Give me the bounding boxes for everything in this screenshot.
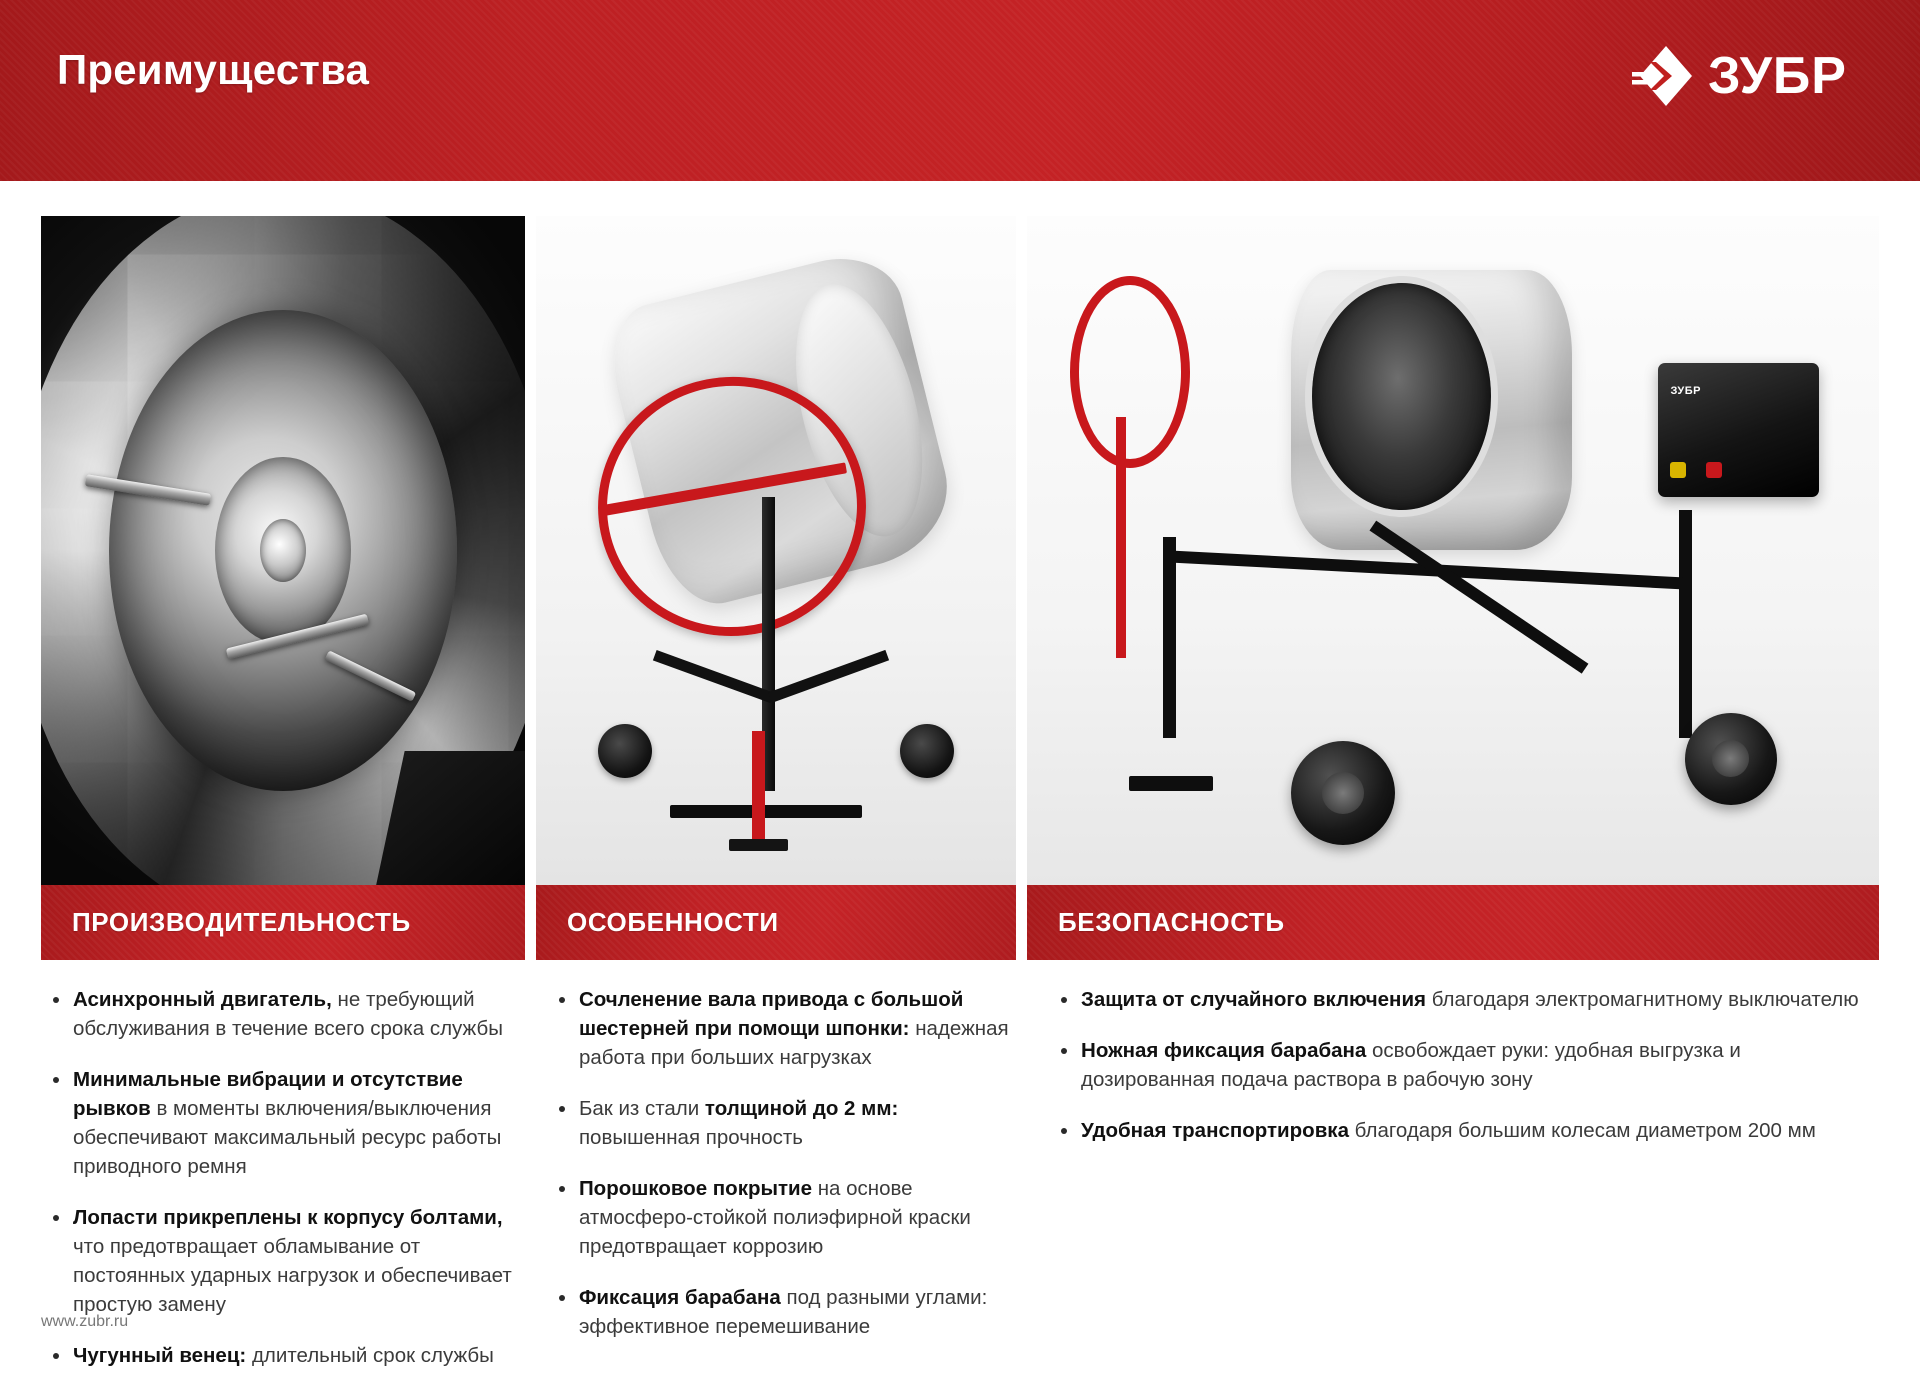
page-title: Преимущества [57,46,369,94]
motor-housing: ЗУБР [1658,363,1820,497]
bullet-bold: Лопасти прикреплены к корпусу болтами, [73,1206,503,1229]
photo-panel-row: ЗУБР [41,216,1879,885]
list-item: Чугунный венец: длительный срок службы [49,1341,516,1370]
bullet-bold: Асинхронный двигатель, [73,988,332,1011]
warning-sticker-icon [1670,462,1686,478]
bullet-list-features: Сочленение вала привода с большой шестер… [555,985,1018,1341]
bullet-rest: что предотвращает обламывание от постоян… [73,1235,512,1316]
brand-wordmark: ЗУБР [1708,42,1847,110]
mixer-tilted-frame-photo [536,216,1016,885]
bullet-bold: Защита от случайного включения [1081,988,1426,1011]
bullet-bold: Сочленение вала привода с большой шестер… [579,988,963,1040]
bullet-rest: благодаря электромагнитному выключателю [1426,988,1859,1011]
power-switch-icon [1706,462,1722,478]
bullet-rest: благодаря большим колесам диаметром 200 … [1349,1119,1816,1142]
bullet-column-safety: Защита от случайного включения благодаря… [1029,985,1879,1392]
list-item: Бак из стали толщиной до 2 мм: повышенна… [555,1094,1018,1152]
mixer-full-view-photo: ЗУБР [1027,216,1879,885]
page-header: Преимущества ЗУБР [0,0,1920,181]
footer-url[interactable]: www.zubr.ru [41,1313,128,1331]
bullet-bold: Чугунный венец: [73,1344,246,1367]
list-item: Сочленение вала привода с большой шестер… [555,985,1018,1072]
section-header-safety: БЕЗОПАСНОСТЬ [1027,885,1879,960]
bullet-rest: длительный срок службы [246,1344,494,1367]
section-title-performance: ПРОИЗВОДИТЕЛЬНОСТЬ [72,907,411,938]
zubr-diamond-arrow-icon [1626,42,1694,110]
list-item: Удобная транспортировка благодаря больши… [1057,1116,1879,1145]
list-item: Фиксация барабана под разными углами: эф… [555,1283,1018,1341]
bullet-bold: толщиной до 2 мм: [705,1097,898,1120]
list-item: Минимальные вибрации и отсутствие рывков… [49,1065,516,1181]
list-item: Защита от случайного включения благодаря… [1057,985,1879,1014]
bullet-rest: повышенная прочность [579,1126,803,1149]
bullet-bold: Ножная фиксация барабана [1081,1039,1366,1062]
list-item: Ножная фиксация барабана освобождает рук… [1057,1036,1879,1094]
bullet-bold: Порошковое покрытие [579,1177,812,1200]
section-header-performance: ПРОИЗВОДИТЕЛЬНОСТЬ [41,885,525,960]
bullet-column-features: Сочленение вала привода с большой шестер… [527,985,1018,1392]
bullet-column-row: Асинхронный двигатель, не требующий обсл… [41,985,1879,1392]
section-header-features: ОСОБЕННОСТИ [536,885,1016,960]
bullet-bold: Удобная транспортировка [1081,1119,1349,1142]
list-item: Порошковое покрытие на основе атмосферо-… [555,1174,1018,1261]
bullet-pre: Бак из стали [579,1097,705,1120]
bullet-list-safety: Защита от случайного включения благодаря… [1057,985,1879,1145]
list-item: Лопасти прикреплены к корпусу болтами, ч… [49,1203,516,1319]
list-item: Асинхронный двигатель, не требующий обсл… [49,985,516,1043]
motor-brand-label: ЗУБР [1670,385,1701,397]
bullet-bold: Фиксация барабана [579,1286,781,1309]
brand-logo: ЗУБР [1626,42,1847,110]
section-title-features: ОСОБЕННОСТИ [567,907,779,938]
drum-interior-photo [41,216,525,885]
section-title-safety: БЕЗОПАСНОСТЬ [1058,907,1285,938]
section-header-row: ПРОИЗВОДИТЕЛЬНОСТЬ ОСОБЕННОСТИ БЕЗОПАСНО… [41,885,1879,960]
